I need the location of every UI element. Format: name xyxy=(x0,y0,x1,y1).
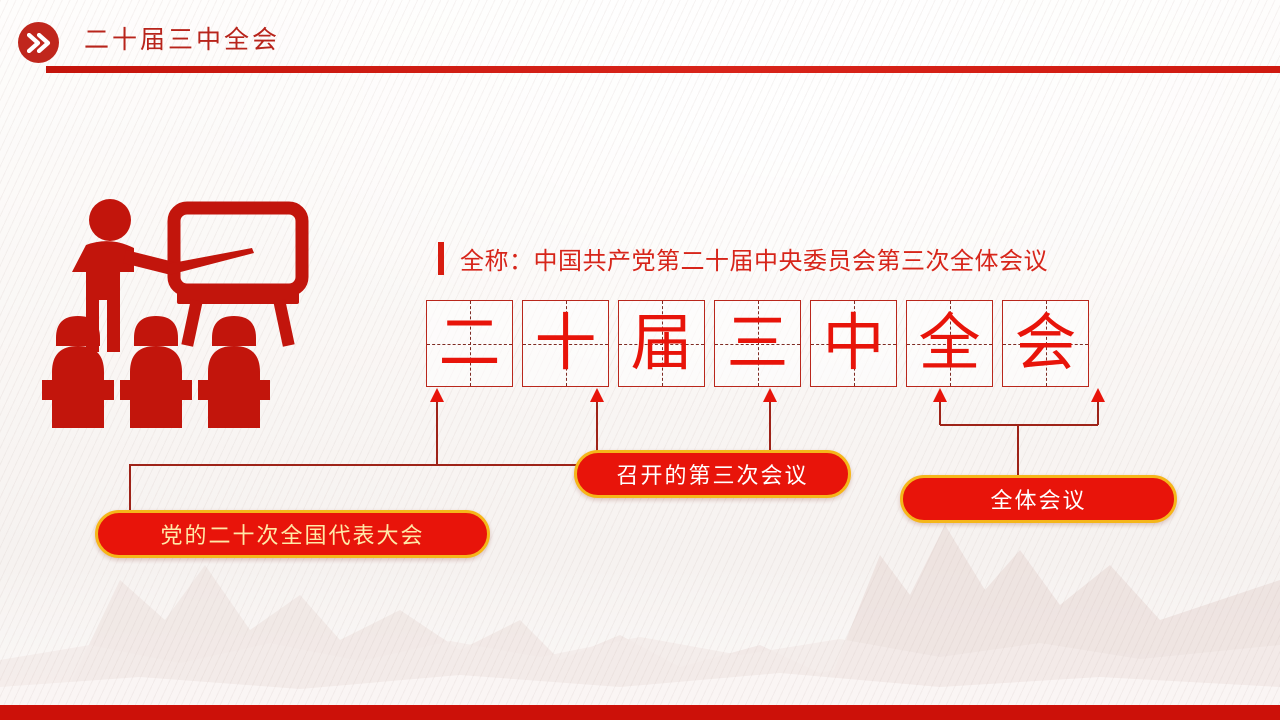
grid-character: 三 xyxy=(715,301,800,386)
character-grid: 二 十 届 三 中 全 会 xyxy=(426,300,1089,387)
grid-cell: 三 xyxy=(714,300,801,387)
grid-cell: 中 xyxy=(810,300,897,387)
callout-pill-right[interactable]: 全体会议 xyxy=(900,475,1177,523)
grid-cell: 届 xyxy=(618,300,705,387)
callout-label: 党的二十次全国代表大会 xyxy=(160,518,424,550)
grid-character: 全 xyxy=(907,301,992,386)
vertical-bar-marker xyxy=(438,242,444,275)
grid-cell: 二 xyxy=(426,300,513,387)
callout-pill-left[interactable]: 党的二十次全国代表大会 xyxy=(95,510,490,558)
grid-character: 会 xyxy=(1003,301,1088,386)
callout-label: 全体会议 xyxy=(990,483,1086,515)
grid-cell: 十 xyxy=(522,300,609,387)
grid-cell: 全 xyxy=(906,300,993,387)
grid-character: 中 xyxy=(811,301,896,386)
subtitle-text: 全称：中国共产党第二十届中央委员会第三次全体会议 xyxy=(460,241,1048,276)
callout-label: 召开的第三次会议 xyxy=(616,458,808,490)
grid-character: 十 xyxy=(523,301,608,386)
grid-character: 届 xyxy=(619,301,704,386)
grid-cell: 会 xyxy=(1002,300,1089,387)
grid-character: 二 xyxy=(427,301,512,386)
subtitle-row: 全称：中国共产党第二十届中央委员会第三次全体会议 xyxy=(438,238,1048,278)
callout-pill-middle[interactable]: 召开的第三次会议 xyxy=(574,450,851,498)
footer-bar xyxy=(0,705,1280,720)
